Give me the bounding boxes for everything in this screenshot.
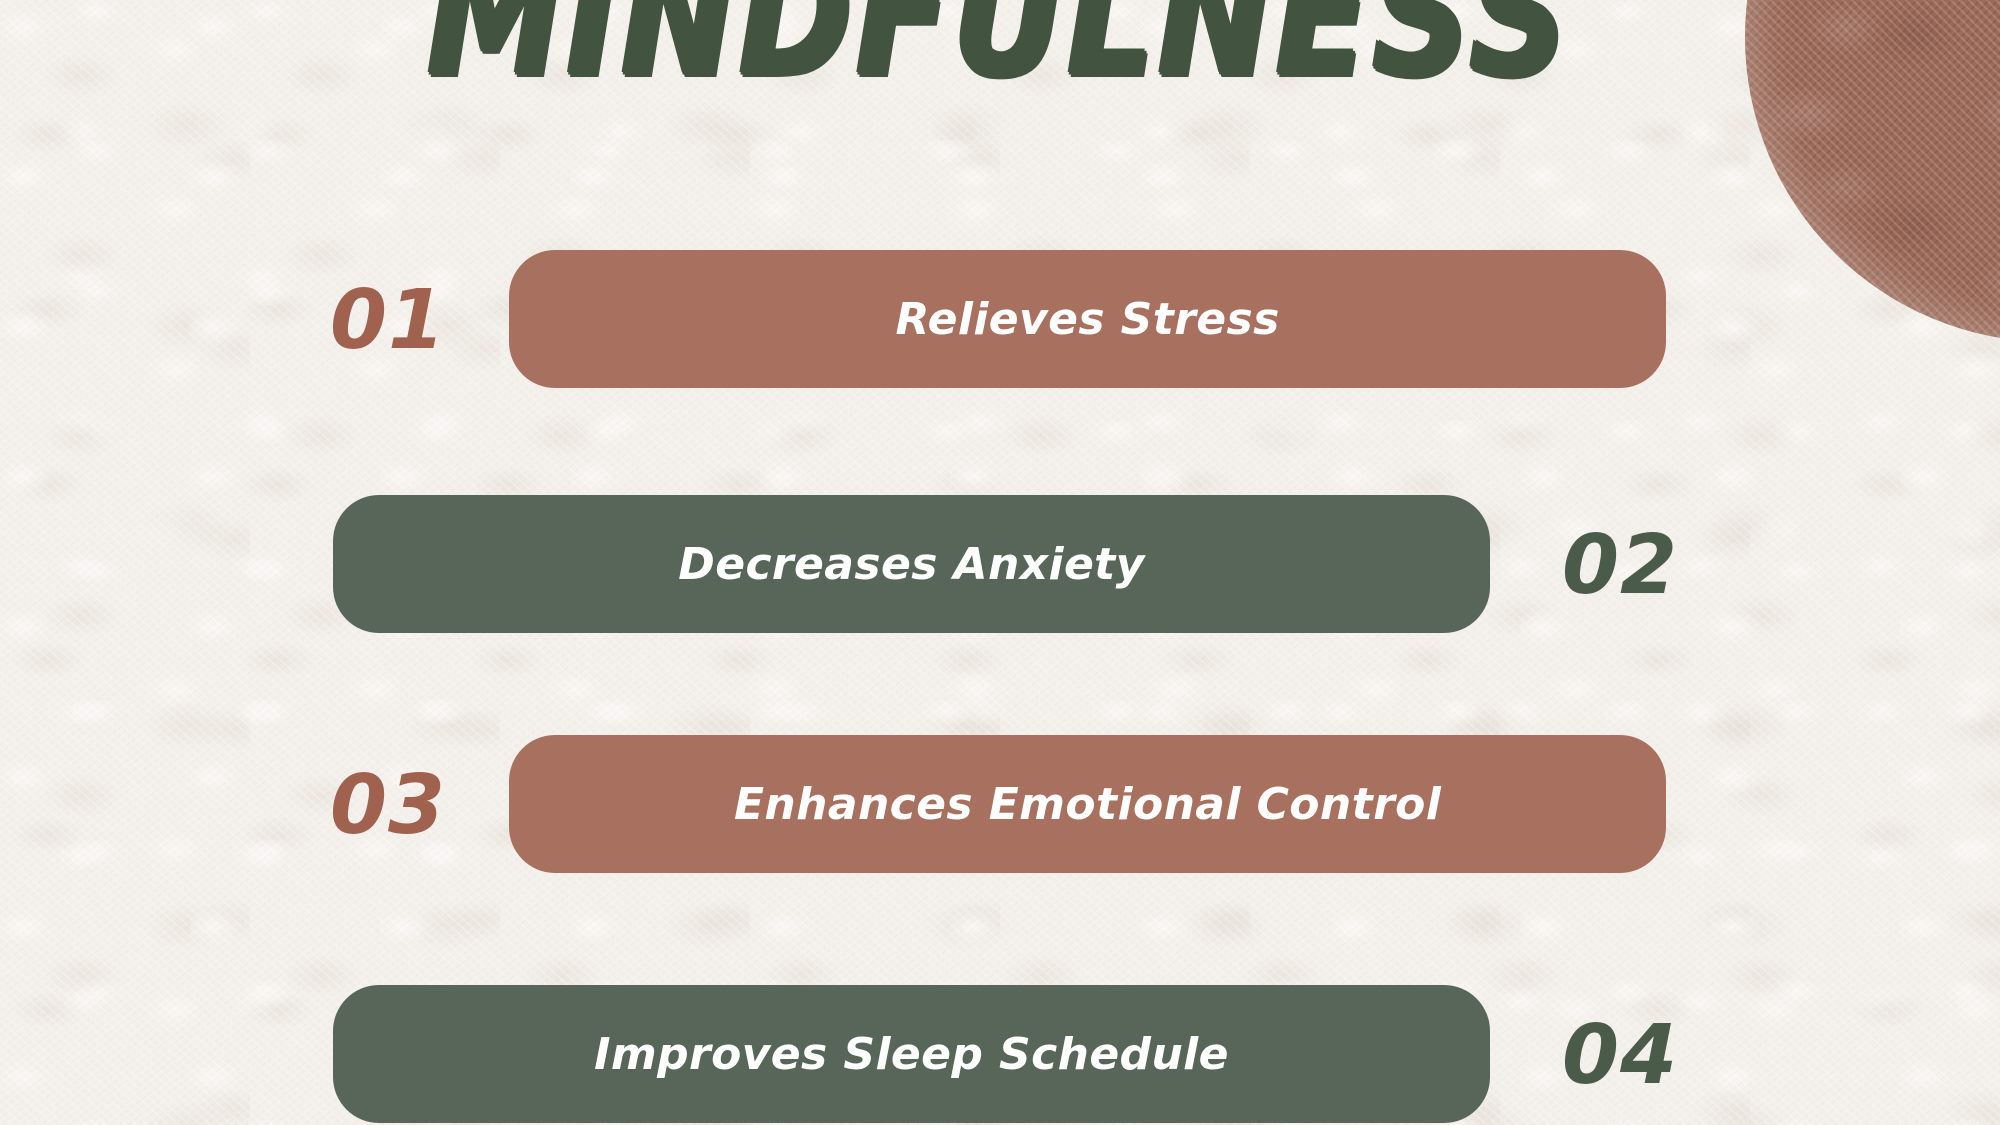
benefit-number-04: 04 [1562, 1015, 1678, 1097]
benefit-row-03: 03 Enhances Emotional Control [330, 735, 1666, 873]
benefit-pill-02[interactable]: Decreases Anxiety [333, 495, 1490, 633]
benefit-number-01: 01 [330, 280, 446, 362]
benefit-label-01: Relieves Stress [896, 294, 1280, 345]
benefit-row-04: Improves Sleep Schedule 04 [333, 985, 1678, 1123]
benefit-number-03: 03 [330, 765, 446, 847]
page-title: MINDFULNESS [0, 0, 2000, 115]
benefit-label-02: Decreases Anxiety [678, 539, 1144, 590]
benefit-row-02: Decreases Anxiety 02 [333, 495, 1678, 633]
benefit-label-03: Enhances Emotional Control [734, 779, 1441, 830]
benefit-pill-03[interactable]: Enhances Emotional Control [509, 735, 1666, 873]
benefit-label-04: Improves Sleep Schedule [594, 1029, 1229, 1080]
rust-circle-decoration [1745, 0, 2000, 342]
title-container: MINDFULNESS [0, 0, 2000, 120]
benefit-row-01: 01 Relieves Stress [330, 250, 1666, 388]
benefit-pill-04[interactable]: Improves Sleep Schedule [333, 985, 1490, 1123]
benefit-number-02: 02 [1562, 525, 1678, 607]
benefit-pill-01[interactable]: Relieves Stress [509, 250, 1666, 388]
